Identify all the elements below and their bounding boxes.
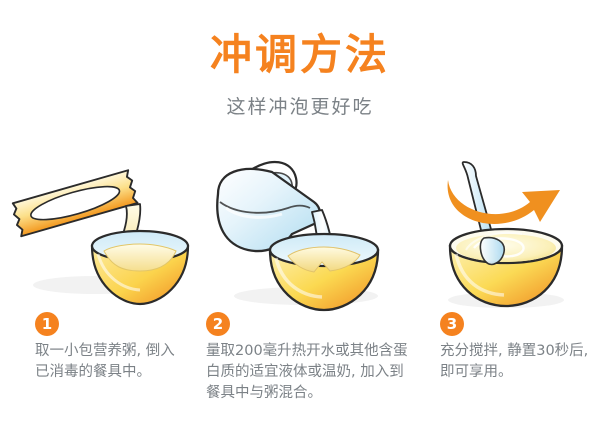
page-header: 冲调方法 这样冲泡更好吃 (0, 0, 600, 117)
step-item-2: 2 量取200毫升热开水或其他含蛋白质的适宜液体或温奶, 加入到餐具中与粥混合。 (196, 150, 418, 432)
step-1-illustration (0, 150, 196, 312)
page-subtitle: 这样冲泡更好吃 (0, 98, 600, 117)
step-3-illustration (418, 150, 600, 312)
page-title: 冲调方法 (0, 34, 600, 76)
spoon-bowl-front (480, 238, 504, 265)
step-item-3: 3 充分搅拌, 静置30秒后, 即可享用。 (418, 150, 600, 432)
step-2-badge: 2 (206, 312, 230, 336)
step-2-text: 量取200毫升热开水或其他含蛋白质的适宜液体或温奶, 加入到餐具中与粥混合。 (206, 341, 414, 404)
step-1-caption: 1 取一小包营养粥, 倒入已消毒的餐具中。 (0, 312, 187, 383)
steps-container: 1 取一小包营养粥, 倒入已消毒的餐具中。 (0, 150, 600, 432)
step-2-caption: 2 量取200毫升热开水或其他含蛋白质的适宜液体或温奶, 加入到餐具中与粥混合。 (196, 312, 414, 404)
sachet-pouring-into-bowl-icon (0, 150, 196, 312)
step-3-text: 充分搅拌, 静置30秒后, 即可享用。 (440, 341, 590, 383)
stir-arrow-icon (448, 180, 560, 224)
bowl-with-spoon-stirring-arrow-icon (418, 150, 600, 312)
step-3-badge: 3 (440, 312, 464, 336)
step-3-caption: 3 充分搅拌, 静置30秒后, 即可享用。 (418, 312, 590, 383)
step-item-1: 1 取一小包营养粥, 倒入已消毒的餐具中。 (0, 150, 196, 432)
step-1-badge: 1 (35, 312, 59, 336)
pitcher-pouring-water-into-bowl-icon (196, 150, 418, 312)
step-2-illustration (196, 150, 418, 312)
step-1-text: 取一小包营养粥, 倒入已消毒的餐具中。 (35, 341, 187, 383)
